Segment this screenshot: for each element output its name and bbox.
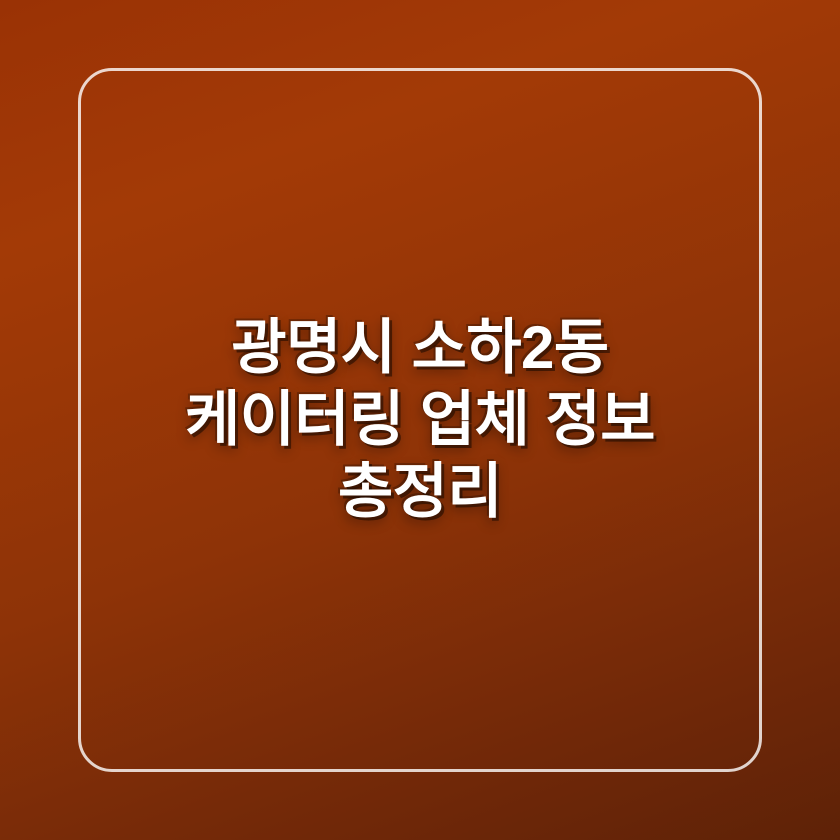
poster-title: 광명시 소하2동 케이터링 업체 정보 총정리 [80,312,760,528]
poster-card: 광명시 소하2동 케이터링 업체 정보 총정리 [0,0,840,840]
title-container: 광명시 소하2동 케이터링 업체 정보 총정리 [80,312,760,528]
